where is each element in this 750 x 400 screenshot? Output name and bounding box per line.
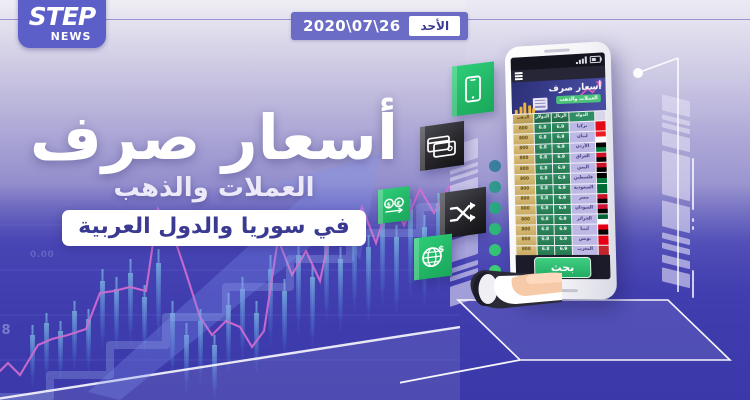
country-flag-icon bbox=[595, 132, 606, 142]
mobile-phone-glyph bbox=[463, 74, 483, 104]
cell-gold-price: 800 bbox=[514, 165, 534, 175]
app-banner: أسعار صرف العملات والذهب bbox=[511, 78, 606, 114]
credit-card-icon[interactable] bbox=[420, 121, 464, 171]
logo-primary-text: STEP bbox=[29, 4, 95, 29]
cell-rate-a: 6.8 bbox=[537, 226, 554, 235]
svg-text:$: $ bbox=[438, 245, 444, 256]
cell-gold-price: 800 bbox=[516, 246, 536, 255]
cell-gold-price: 800 bbox=[514, 155, 534, 165]
mobile-phone-icon[interactable] bbox=[452, 61, 494, 116]
cell-country-name: الجزائر bbox=[572, 215, 597, 225]
country-flag-icon bbox=[596, 163, 607, 173]
banner-coins-icon bbox=[515, 102, 535, 114]
banner-document-icon bbox=[533, 98, 548, 111]
cell-rate-b: 6.9 bbox=[554, 225, 571, 234]
headline-pill: في سوريا والدول العربية bbox=[62, 210, 366, 246]
cell-gold-price: 800 bbox=[513, 124, 533, 134]
header-cell-rate-a: الدولار bbox=[534, 113, 551, 123]
cell-country-name: مصر bbox=[572, 194, 597, 204]
header-cell-gold: الذهب bbox=[513, 114, 533, 124]
cell-rate-b: 6.9 bbox=[553, 184, 570, 194]
chart-label-0: 78 bbox=[0, 323, 11, 338]
cell-country-name: لبنان bbox=[570, 132, 595, 142]
cell-rate-a: 6.8 bbox=[536, 195, 553, 204]
table-row[interactable]: 8006.86.9تونس bbox=[516, 235, 609, 245]
country-flag-icon bbox=[595, 121, 606, 131]
battery-icon bbox=[590, 56, 601, 64]
progress-dot bbox=[489, 160, 501, 172]
table-row[interactable]: 8006.86.9المغرب bbox=[516, 246, 609, 256]
cell-country-name: العراق bbox=[571, 153, 596, 163]
promo-banner: 78 25.01 0.00 bbox=[0, 0, 750, 400]
country-flag-icon bbox=[598, 235, 609, 244]
cell-gold-price: 800 bbox=[516, 226, 536, 235]
cell-rate-b: 6.9 bbox=[552, 143, 569, 153]
cell-rate-b: 6.9 bbox=[553, 174, 570, 184]
headline-block: أسعار صرف العملات والذهب في سوريا والدول… bbox=[14, 108, 414, 246]
cell-rate-a: 6.8 bbox=[537, 236, 554, 245]
country-flag-icon bbox=[597, 215, 608, 224]
progress-dot bbox=[489, 223, 501, 235]
cell-rate-b: 6.9 bbox=[552, 123, 569, 133]
app-banner-subtitle: العملات والذهب bbox=[556, 94, 601, 104]
cell-gold-price: 800 bbox=[515, 205, 535, 214]
progress-dot bbox=[489, 244, 501, 256]
table-row[interactable]: 8006.86.9السعودية bbox=[515, 183, 608, 194]
chart-label-2: 0.00 bbox=[30, 250, 54, 260]
country-flag-icon bbox=[597, 183, 608, 193]
cell-rate-b: 6.9 bbox=[554, 215, 571, 224]
cell-gold-price: 800 bbox=[514, 145, 534, 155]
hand-pressing-button bbox=[466, 262, 586, 314]
tile-fold bbox=[440, 193, 445, 240]
country-flag-icon bbox=[596, 142, 607, 152]
exchange-shuffle-icon[interactable] bbox=[440, 187, 486, 239]
date-text: 2020\07\26 bbox=[303, 17, 400, 35]
tile-fold bbox=[414, 238, 419, 281]
cell-rate-a: 6.8 bbox=[534, 134, 551, 144]
cell-rate-b: 6.9 bbox=[554, 195, 571, 205]
cell-rate-b: 6.9 bbox=[554, 205, 571, 214]
cell-rate-b: 6.9 bbox=[552, 133, 569, 143]
table-row[interactable]: 8006.86.9ليبيا bbox=[516, 225, 609, 235]
shuffle-arrows-glyph bbox=[449, 199, 477, 227]
cell-gold-price: 800 bbox=[516, 236, 536, 245]
cell-country-name: تركيا bbox=[570, 122, 595, 132]
country-flag-icon bbox=[597, 194, 608, 204]
cell-gold-price: 800 bbox=[515, 175, 535, 185]
cell-rate-b: 6.9 bbox=[555, 236, 572, 245]
cell-rate-a: 6.8 bbox=[535, 164, 552, 174]
cell-rate-b: 6.9 bbox=[555, 246, 572, 255]
country-flag-icon bbox=[597, 204, 608, 213]
decor-frame-right bbox=[632, 42, 712, 302]
cell-rate-a: 6.8 bbox=[534, 124, 551, 134]
cell-rate-a: 6.8 bbox=[535, 175, 552, 185]
header-cell-flag bbox=[595, 111, 606, 121]
globe-dollar-glyph: $ bbox=[420, 242, 446, 271]
table-row[interactable]: 8006.86.9مصر bbox=[515, 194, 608, 205]
hamburger-menu-icon[interactable] bbox=[515, 72, 523, 80]
cell-rate-b: 6.9 bbox=[553, 164, 570, 174]
phone-screen: أسعار صرف العملات والذهب الذهبالدولارالر… bbox=[511, 52, 611, 279]
cell-country-name: المغرب bbox=[573, 246, 598, 255]
country-flag-icon bbox=[598, 225, 609, 234]
table-row[interactable]: 8006.86.9السودان bbox=[515, 204, 608, 215]
credit-card-glyph bbox=[427, 132, 457, 160]
signal-bars-icon bbox=[576, 57, 587, 64]
cell-rate-a: 6.8 bbox=[536, 215, 553, 224]
country-flag-icon bbox=[596, 152, 607, 162]
globe-dollar-icon[interactable]: $ bbox=[414, 234, 452, 281]
weekday-text: الأحد bbox=[409, 16, 460, 36]
cell-country-name: السعودية bbox=[571, 184, 596, 194]
cell-rate-a: 6.8 bbox=[535, 144, 552, 154]
table-row[interactable]: 8006.86.9الجزائر bbox=[516, 215, 609, 225]
cell-gold-price: 800 bbox=[515, 195, 535, 205]
progress-dot bbox=[489, 202, 501, 214]
logo-secondary-text: NEWS bbox=[51, 31, 92, 42]
phone-earpiece bbox=[544, 48, 570, 53]
cell-country-name: ليبيا bbox=[572, 225, 597, 235]
cell-country-name: اليمن bbox=[571, 163, 596, 173]
country-flag-icon bbox=[596, 173, 607, 183]
cell-rate-a: 6.8 bbox=[536, 205, 553, 214]
cell-gold-price: 800 bbox=[514, 134, 534, 144]
cell-country-name: فلسطين bbox=[571, 173, 596, 183]
cell-rate-a: 6.8 bbox=[537, 246, 554, 255]
headline-sub: العملات والذهب bbox=[14, 175, 414, 201]
header-cell-rate-b: الريال bbox=[552, 113, 569, 123]
progress-dot bbox=[489, 181, 501, 193]
date-badge: 2020\07\26 الأحد bbox=[291, 12, 468, 40]
country-flag-icon bbox=[598, 246, 609, 255]
headline-main: أسعار صرف bbox=[14, 108, 414, 169]
tile-fold bbox=[420, 126, 425, 171]
phone-mockup: أسعار صرف العملات والذهب الذهبالدولارالر… bbox=[505, 41, 618, 300]
cell-country-name: تونس bbox=[573, 235, 598, 244]
cell-rate-a: 6.8 bbox=[536, 185, 553, 195]
step-news-logo[interactable]: STEP NEWS bbox=[18, 0, 106, 48]
cell-gold-price: 800 bbox=[516, 216, 536, 225]
cell-gold-price: 800 bbox=[515, 185, 535, 195]
header-cell-country: الدولة bbox=[570, 112, 595, 122]
cell-country-name: السودان bbox=[572, 204, 597, 214]
cell-rate-a: 6.8 bbox=[535, 154, 552, 164]
currency-rate-table[interactable]: الذهبالدولارالريالالدولة8006.86.9تركيا80… bbox=[512, 110, 610, 255]
cell-country-name: الأردن bbox=[570, 142, 595, 152]
tile-fold bbox=[452, 66, 457, 117]
cell-rate-b: 6.9 bbox=[553, 154, 570, 164]
